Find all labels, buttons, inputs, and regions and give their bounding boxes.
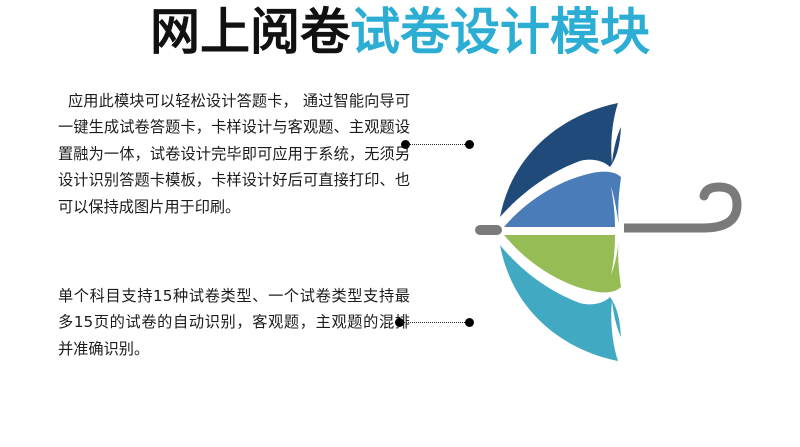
slide-canvas: 网上阅卷试卷设计模块 应用此模块可以轻松设计答题卡， 通过智能向导可一键生成试卷… xyxy=(0,0,800,447)
umbrella-handle-icon xyxy=(624,187,737,228)
page-title: 网上阅卷试卷设计模块 xyxy=(0,0,800,68)
description-paragraph-2: 单个科目支持15种试卷类型、一个试卷类型支持最多15页的试卷的自动识别，客观题，… xyxy=(58,283,410,362)
page-title-accent-part: 试卷设计模块 xyxy=(350,3,650,61)
description-paragraph-1: 应用此模块可以轻松设计答题卡， 通过智能向导可一键生成试卷答题卡，卡样设计与客观… xyxy=(58,88,410,220)
umbrella-logo xyxy=(440,95,745,385)
page-title-dark-part: 网上阅卷 xyxy=(150,3,350,61)
